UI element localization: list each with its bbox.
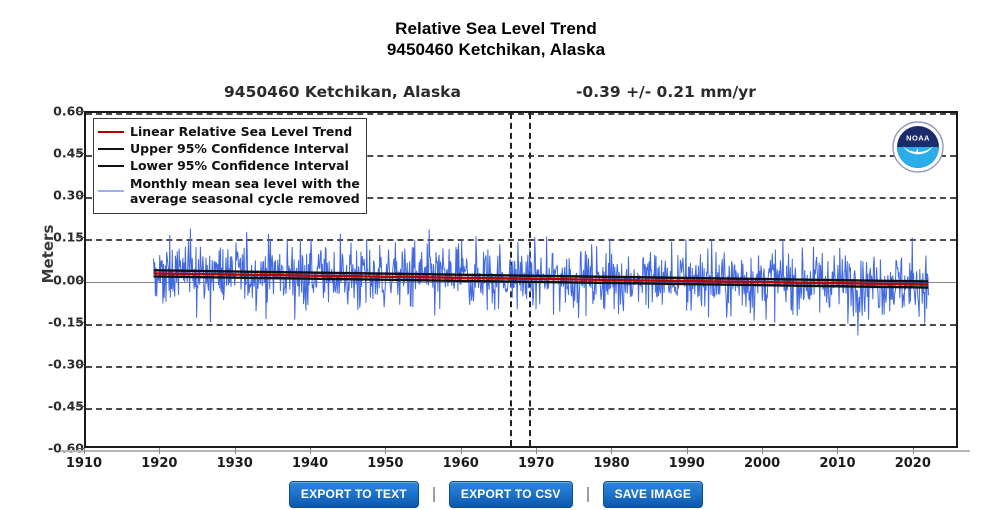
y-axis-ticks: 0.600.450.300.150.00-0.15-0.30-0.45-0.60 [0,111,84,448]
y-tick-mark-0 [76,111,84,112]
x-tick-label-8: 1990 [652,456,722,471]
x-tick-label-4: 1950 [350,456,420,471]
legend-trend-swatch [98,131,124,133]
x-tick-mark-0 [84,448,85,454]
x-tick-label-1: 1920 [124,456,194,471]
x-axis-ticks: 1910192019301940195019601970198019902000… [0,448,992,478]
x-tick-mark-5 [461,448,462,454]
y-tick-mark-7 [76,406,84,407]
button-separator-1 [433,487,435,502]
export-to-text-button[interactable]: EXPORT TO TEXT [289,481,419,508]
y-tick-mark-6 [76,364,84,365]
chart-title-block: Relative Sea Level Trend 9450460 Ketchik… [0,18,992,61]
noaa-logo: NOAA [892,121,944,173]
legend: Linear Relative Sea Level TrendUpper 95%… [93,118,367,214]
legend-upper-ci-label: Upper 95% Confidence Interval [130,141,349,156]
legend-monthly-mean-swatch [98,190,124,192]
y-tick-mark-5 [76,322,84,323]
x-tick-mark-7 [611,448,612,454]
y-tick-mark-4 [76,280,84,281]
noaa-logo-text: NOAA [906,134,930,143]
legend-trend: Linear Relative Sea Level Trend [98,123,360,140]
export-to-csv-button[interactable]: EXPORT TO CSV [449,481,573,508]
x-tick-mark-11 [913,448,914,454]
button-separator-2 [587,487,589,502]
page-title-line1: Relative Sea Level Trend [0,18,992,39]
x-tick-mark-8 [687,448,688,454]
x-tick-label-9: 2000 [727,456,797,471]
y-tick-mark-1 [76,153,84,154]
page-title-line2: 9450460 Ketchikan, Alaska [0,39,992,60]
legend-lower-ci-label: Lower 95% Confidence Interval [130,158,349,173]
x-tick-label-10: 2010 [802,456,872,471]
y-tick-mark-2 [76,195,84,196]
x-tick-mark-3 [310,448,311,454]
legend-lower-ci: Lower 95% Confidence Interval [98,157,360,174]
plot-area: Linear Relative Sea Level TrendUpper 95%… [84,111,958,448]
x-tick-mark-2 [235,448,236,454]
x-tick-mark-9 [762,448,763,454]
legend-upper-ci-swatch [98,148,124,150]
save-image-button[interactable]: SAVE IMAGE [603,481,703,508]
legend-upper-ci: Upper 95% Confidence Interval [98,140,360,157]
subtitle-row: 9450460 Ketchikan, Alaska -0.39 +/- 0.21… [84,83,959,105]
legend-lower-ci-swatch [98,165,124,167]
x-tick-label-6: 1970 [501,456,571,471]
station-label: 9450460 Ketchikan, Alaska [224,83,461,101]
legend-trend-label: Linear Relative Sea Level Trend [130,124,352,139]
x-tick-label-5: 1960 [426,456,496,471]
trend-value-label: -0.39 +/- 0.21 mm/yr [576,83,756,101]
x-tick-label-11: 2020 [878,456,948,471]
export-button-bar: EXPORT TO TEXT EXPORT TO CSV SAVE IMAGE [0,481,992,508]
x-tick-mark-1 [159,448,160,454]
x-tick-mark-6 [536,448,537,454]
x-axis-baseline [60,450,970,452]
x-tick-label-3: 1940 [275,456,345,471]
legend-monthly-mean: Monthly mean sea level with the average … [98,174,360,208]
legend-monthly-mean-label: Monthly mean sea level with the average … [130,176,360,206]
x-tick-mark-10 [837,448,838,454]
x-tick-label-7: 1980 [576,456,646,471]
x-tick-label-0: 1910 [49,456,119,471]
x-tick-label-2: 1930 [200,456,270,471]
x-tick-mark-4 [385,448,386,454]
y-tick-mark-3 [76,237,84,238]
